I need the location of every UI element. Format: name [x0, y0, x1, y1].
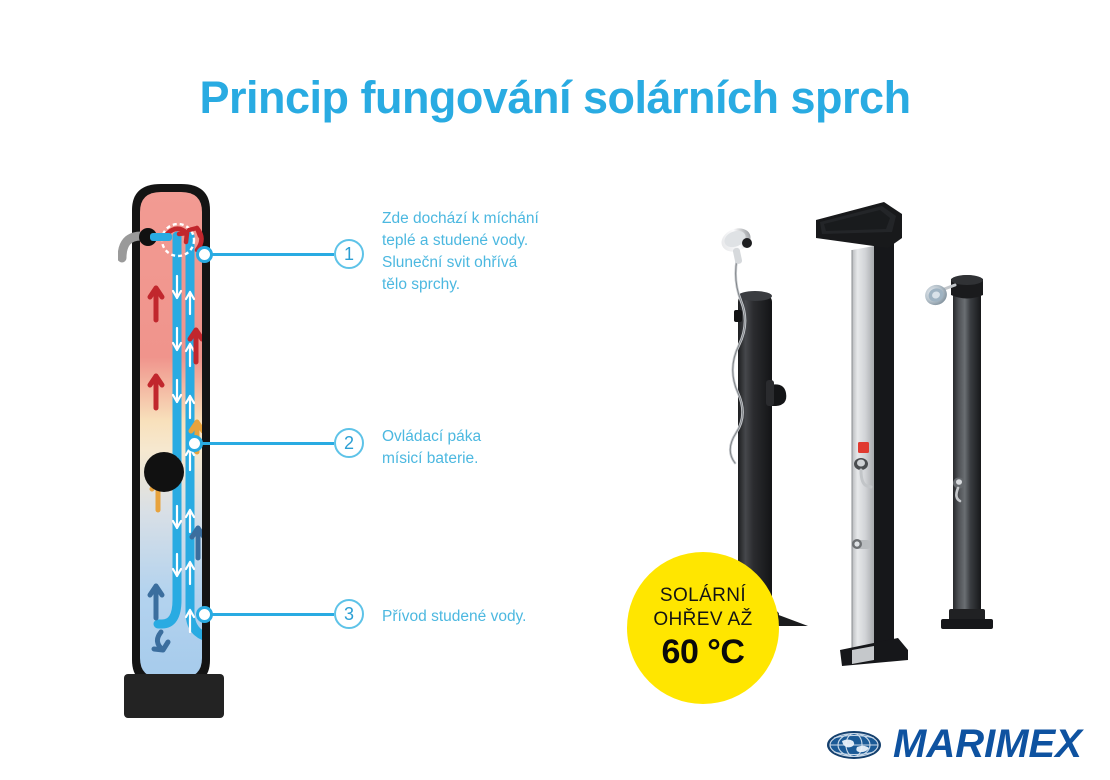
globe-icon: [826, 730, 882, 760]
solar-heating-badge: SOLÁRNÍ OHŘEV AŽ 60 °C: [627, 552, 779, 704]
product3-base: [941, 619, 993, 629]
spout-inner-pipe: [150, 233, 172, 241]
badge-temperature: 60 °C: [662, 633, 745, 672]
badge-line-2: OHŘEV AŽ: [653, 608, 752, 631]
callout-3-text: Přívod studené vody.: [382, 606, 612, 628]
badge-line-1: SOLÁRNÍ: [660, 584, 746, 607]
callout-2-line: [200, 442, 334, 445]
callout-2-text: Ovládací páka mísicí baterie.: [382, 426, 592, 470]
product2-rear-column: [874, 236, 894, 650]
product2-rain-head: [816, 202, 902, 248]
product3-column: [953, 291, 981, 615]
product2-tap-lower: [852, 539, 871, 549]
callout-1-text: Zde dochází k míchání teplé a studené vo…: [382, 208, 592, 296]
mixer-knob: [144, 452, 184, 492]
marimex-logo: MARIMEX: [826, 722, 1082, 767]
callout-3-number: 3: [334, 599, 364, 629]
callout-3-line: [210, 613, 334, 616]
solar-shower-cutaway-diagram: [118, 180, 258, 720]
product3-fixed-head: [925, 282, 955, 308]
page-title: Princip fungování solárních sprch: [0, 72, 1110, 124]
callout-1-line: [210, 253, 334, 256]
callout-1-number: 1: [334, 239, 364, 269]
product2-red-label: [858, 442, 869, 453]
infographic-page: Princip fungování solárních sprch: [0, 0, 1110, 780]
logo-wordmark: MARIMEX: [893, 722, 1082, 767]
callout-2-number: 2: [334, 428, 364, 458]
product1-handheld-head: [718, 224, 754, 264]
tank-base: [124, 674, 224, 718]
product-dark-round-shower: [925, 265, 1015, 650]
